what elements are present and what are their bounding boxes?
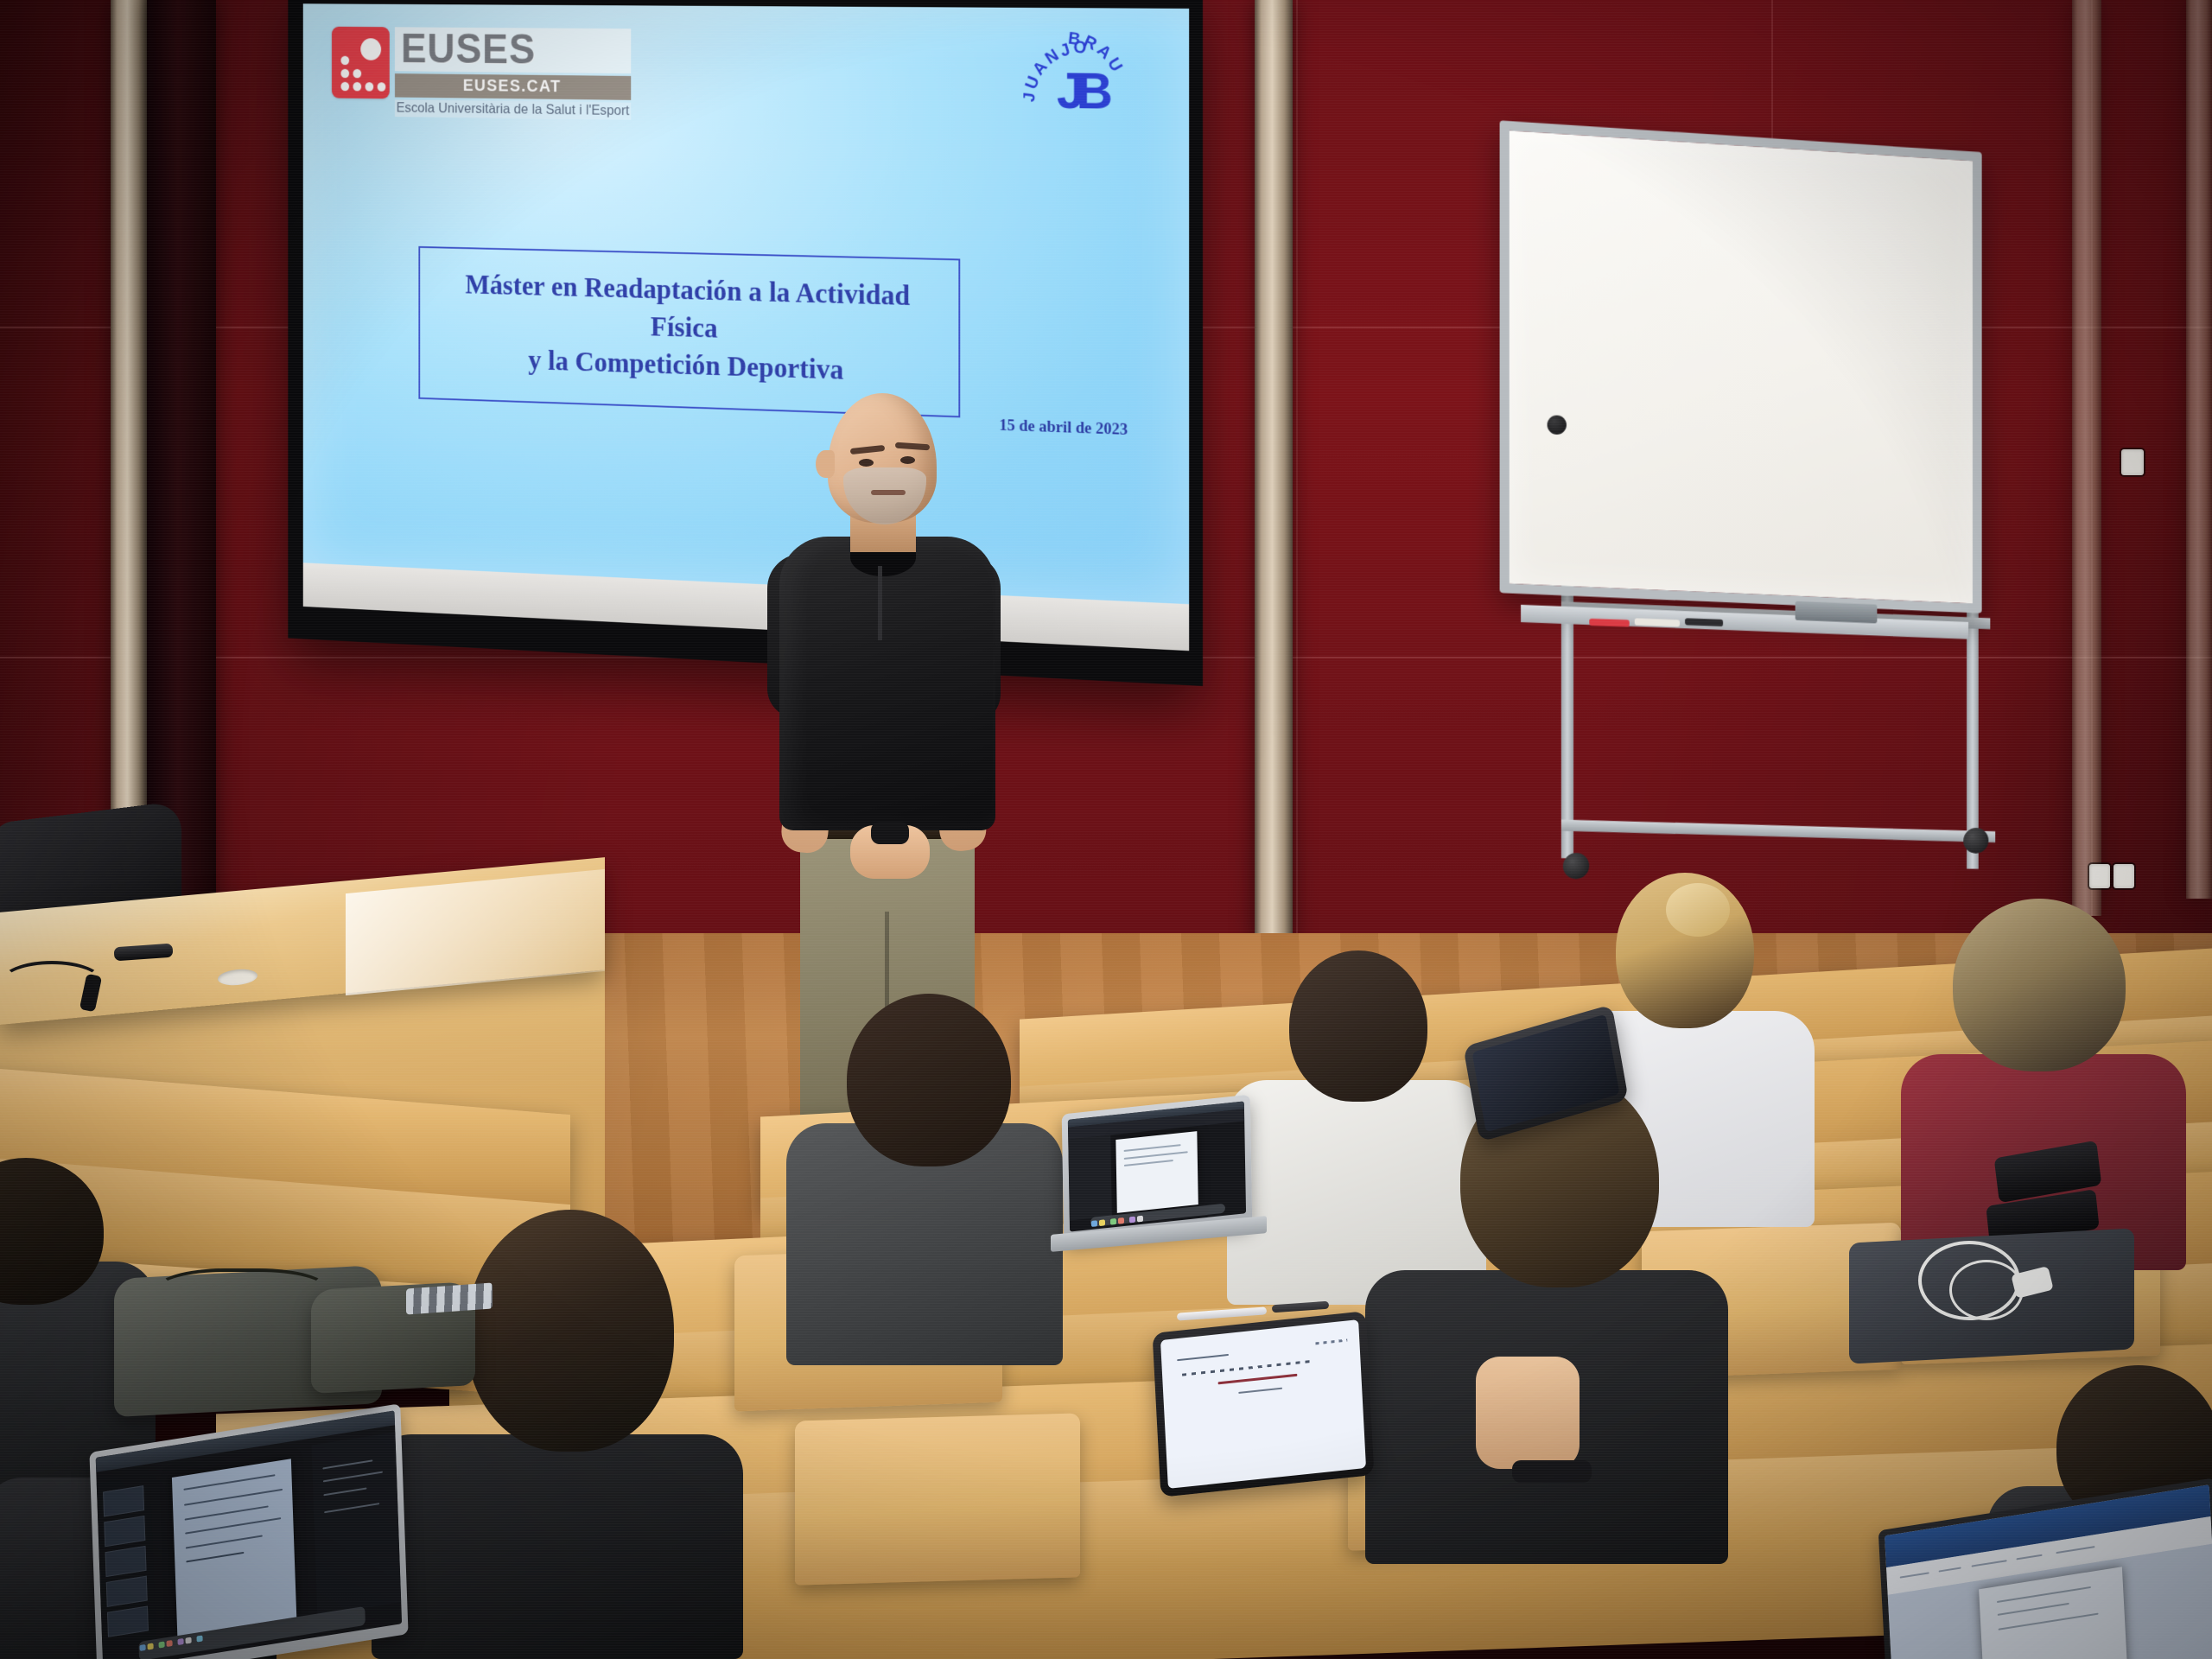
backpack-strap: [156, 1268, 328, 1320]
macbook-center-screen[interactable]: [1068, 1101, 1246, 1231]
wall-seam: [1296, 0, 1298, 942]
whiteboard-pivot-knob-icon[interactable]: [1548, 416, 1567, 435]
presentation-clicker-icon[interactable]: [871, 822, 909, 844]
juanjo-brau-logo: JUANJO BRAU JB: [1023, 27, 1138, 149]
thumbnail-sidebar[interactable]: [97, 1475, 156, 1649]
wall-pillar: [1255, 0, 1293, 942]
thumbnail-sidebar[interactable]: [1068, 1135, 1112, 1221]
wall-pillar: [2072, 0, 2101, 916]
document-page: [1116, 1131, 1198, 1213]
wall-pillar: [111, 0, 147, 931]
ipad-notes-screen[interactable]: [1160, 1319, 1366, 1489]
light-switch-icon[interactable]: [2121, 449, 2144, 475]
wall-pillar-shadow: [147, 0, 216, 916]
power-outlet-icon[interactable]: [2089, 864, 2110, 888]
power-outlet-icon[interactable]: [2113, 864, 2134, 888]
euses-tagline: Escola Universitària de la Salut i l'Esp…: [395, 99, 631, 120]
projection-screen: EUSES EUSES.CAT Escola Universitària de …: [288, 0, 1203, 686]
slide-title-box: Máster en Readaptación a la Actividad Fí…: [418, 246, 960, 417]
whiteboard-rail: [1561, 819, 1995, 842]
student-left-laptop: [778, 994, 1071, 1357]
projected-slide: EUSES EUSES.CAT Escola Universitària de …: [303, 3, 1189, 606]
student-hand: [1476, 1357, 1580, 1469]
euses-wordmark: EUSES: [395, 27, 631, 73]
euses-dice-icon: [332, 27, 390, 99]
red-marker-icon[interactable]: [1589, 619, 1629, 627]
whiteboard-eraser-icon[interactable]: [1796, 601, 1878, 624]
jb-monogram: JB: [1057, 60, 1104, 120]
hair-bun: [1666, 883, 1730, 937]
seat-back[interactable]: [795, 1413, 1080, 1585]
document-page: [171, 1459, 296, 1635]
wrist-watch-icon: [1512, 1460, 1592, 1483]
student-bottom-left: [372, 1210, 743, 1659]
whiteboard-surface[interactable]: [1500, 120, 1982, 613]
euses-logo: EUSES EUSES.CAT Escola Universitària de …: [332, 27, 631, 120]
euses-domain: EUSES.CAT: [395, 73, 631, 100]
student-center-ipad: [1365, 1071, 1728, 1555]
right-inspector-panel[interactable]: [311, 1432, 401, 1616]
macbook-left-screen[interactable]: [96, 1410, 402, 1659]
ipad-held[interactable]: [1153, 1311, 1375, 1497]
lecture-hall-photo: EUSES EUSES.CAT Escola Universitària de …: [0, 0, 2212, 1659]
cable-coil-icon[interactable]: [1949, 1260, 2024, 1320]
whiteboard-caster-icon: [1963, 828, 1988, 854]
wall-pillar: [2186, 0, 2212, 899]
black-marker-icon[interactable]: [1685, 618, 1723, 626]
whiteboard: [1466, 124, 2018, 956]
